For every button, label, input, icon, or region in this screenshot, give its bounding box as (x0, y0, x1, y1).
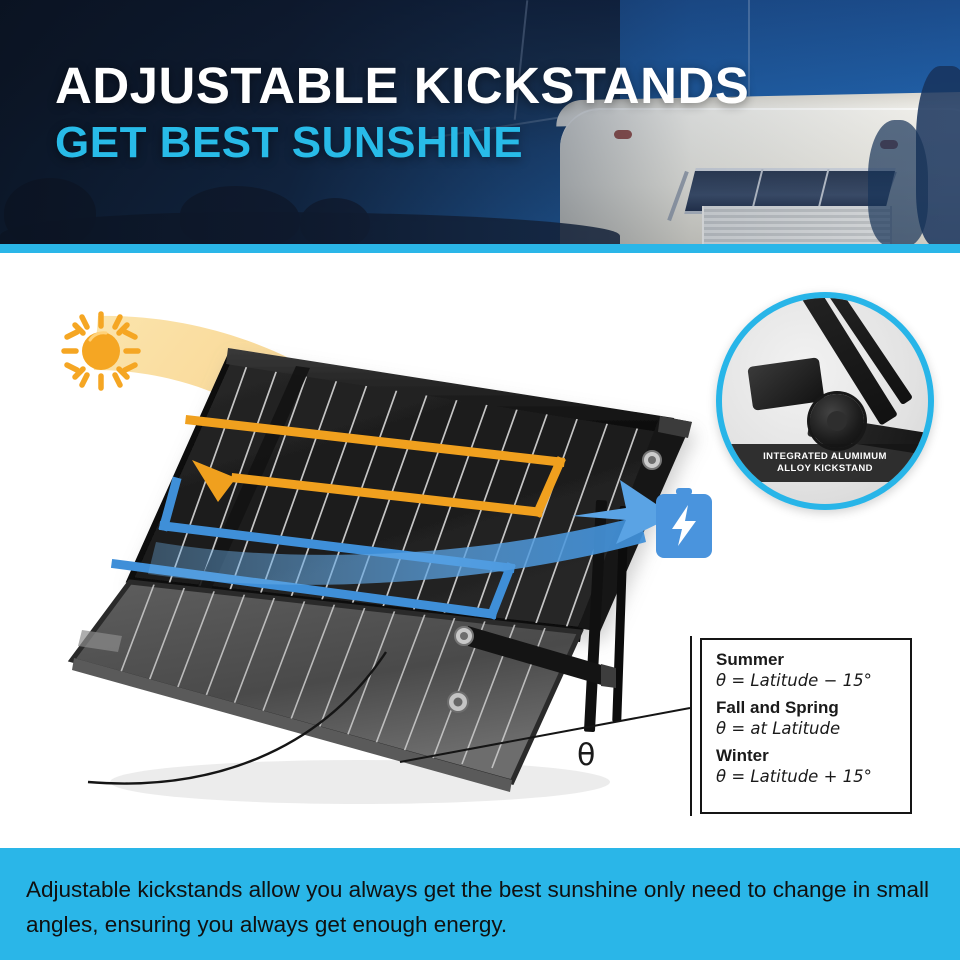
legend-equation: θ = at Latitude (716, 718, 910, 739)
legend-item: Summer θ = Latitude − 15° (716, 650, 910, 691)
kickstand-adjust-knob (810, 394, 864, 448)
tilt-angle-legend: Summer θ = Latitude − 15° Fall and Sprin… (700, 638, 912, 814)
infographic-page: ADJUSTABLE KICKSTANDS GET BEST SUNSHINE (0, 0, 960, 960)
footer-caption-bar: Adjustable kickstands allow you always g… (0, 848, 960, 960)
footer-caption-text: Adjustable kickstands allow you always g… (0, 848, 960, 942)
legend-equation: θ = Latitude + 15° (716, 766, 910, 787)
header-title-primary: ADJUSTABLE KICKSTANDS (55, 60, 749, 112)
accent-divider (0, 244, 960, 253)
legend-season-label: Summer (716, 650, 910, 670)
angle-theta-symbol: θ (577, 738, 595, 773)
battery-charging-icon (655, 488, 713, 560)
header-text-block: ADJUSTABLE KICKSTANDS GET BEST SUNSHINE (55, 60, 749, 168)
legend-season-label: Winter (716, 746, 910, 766)
kickstand-label-line1: INTEGRATED ALUMIMUM (763, 451, 887, 462)
kickstand-clamp-block (747, 357, 824, 411)
kickstand-closeup-circle: INTEGRATED ALUMIMUM ALLOY KICKSTAND (716, 292, 934, 510)
kickstand-closeup-label: INTEGRATED ALUMIMUM ALLOY KICKSTAND (722, 444, 928, 482)
energy-flow-arrows (60, 330, 740, 630)
header-banner: ADJUSTABLE KICKSTANDS GET BEST SUNSHINE (0, 0, 960, 244)
header-title-secondary: GET BEST SUNSHINE (55, 118, 749, 168)
legend-season-label: Fall and Spring (716, 698, 910, 718)
kickstand-label-line2: ALLOY KICKSTAND (777, 463, 873, 474)
legend-leader-line (690, 636, 692, 816)
legend-equation: θ = Latitude − 15° (716, 670, 910, 691)
legend-item: Winter θ = Latitude + 15° (716, 746, 910, 787)
legend-item: Fall and Spring θ = at Latitude (716, 698, 910, 739)
